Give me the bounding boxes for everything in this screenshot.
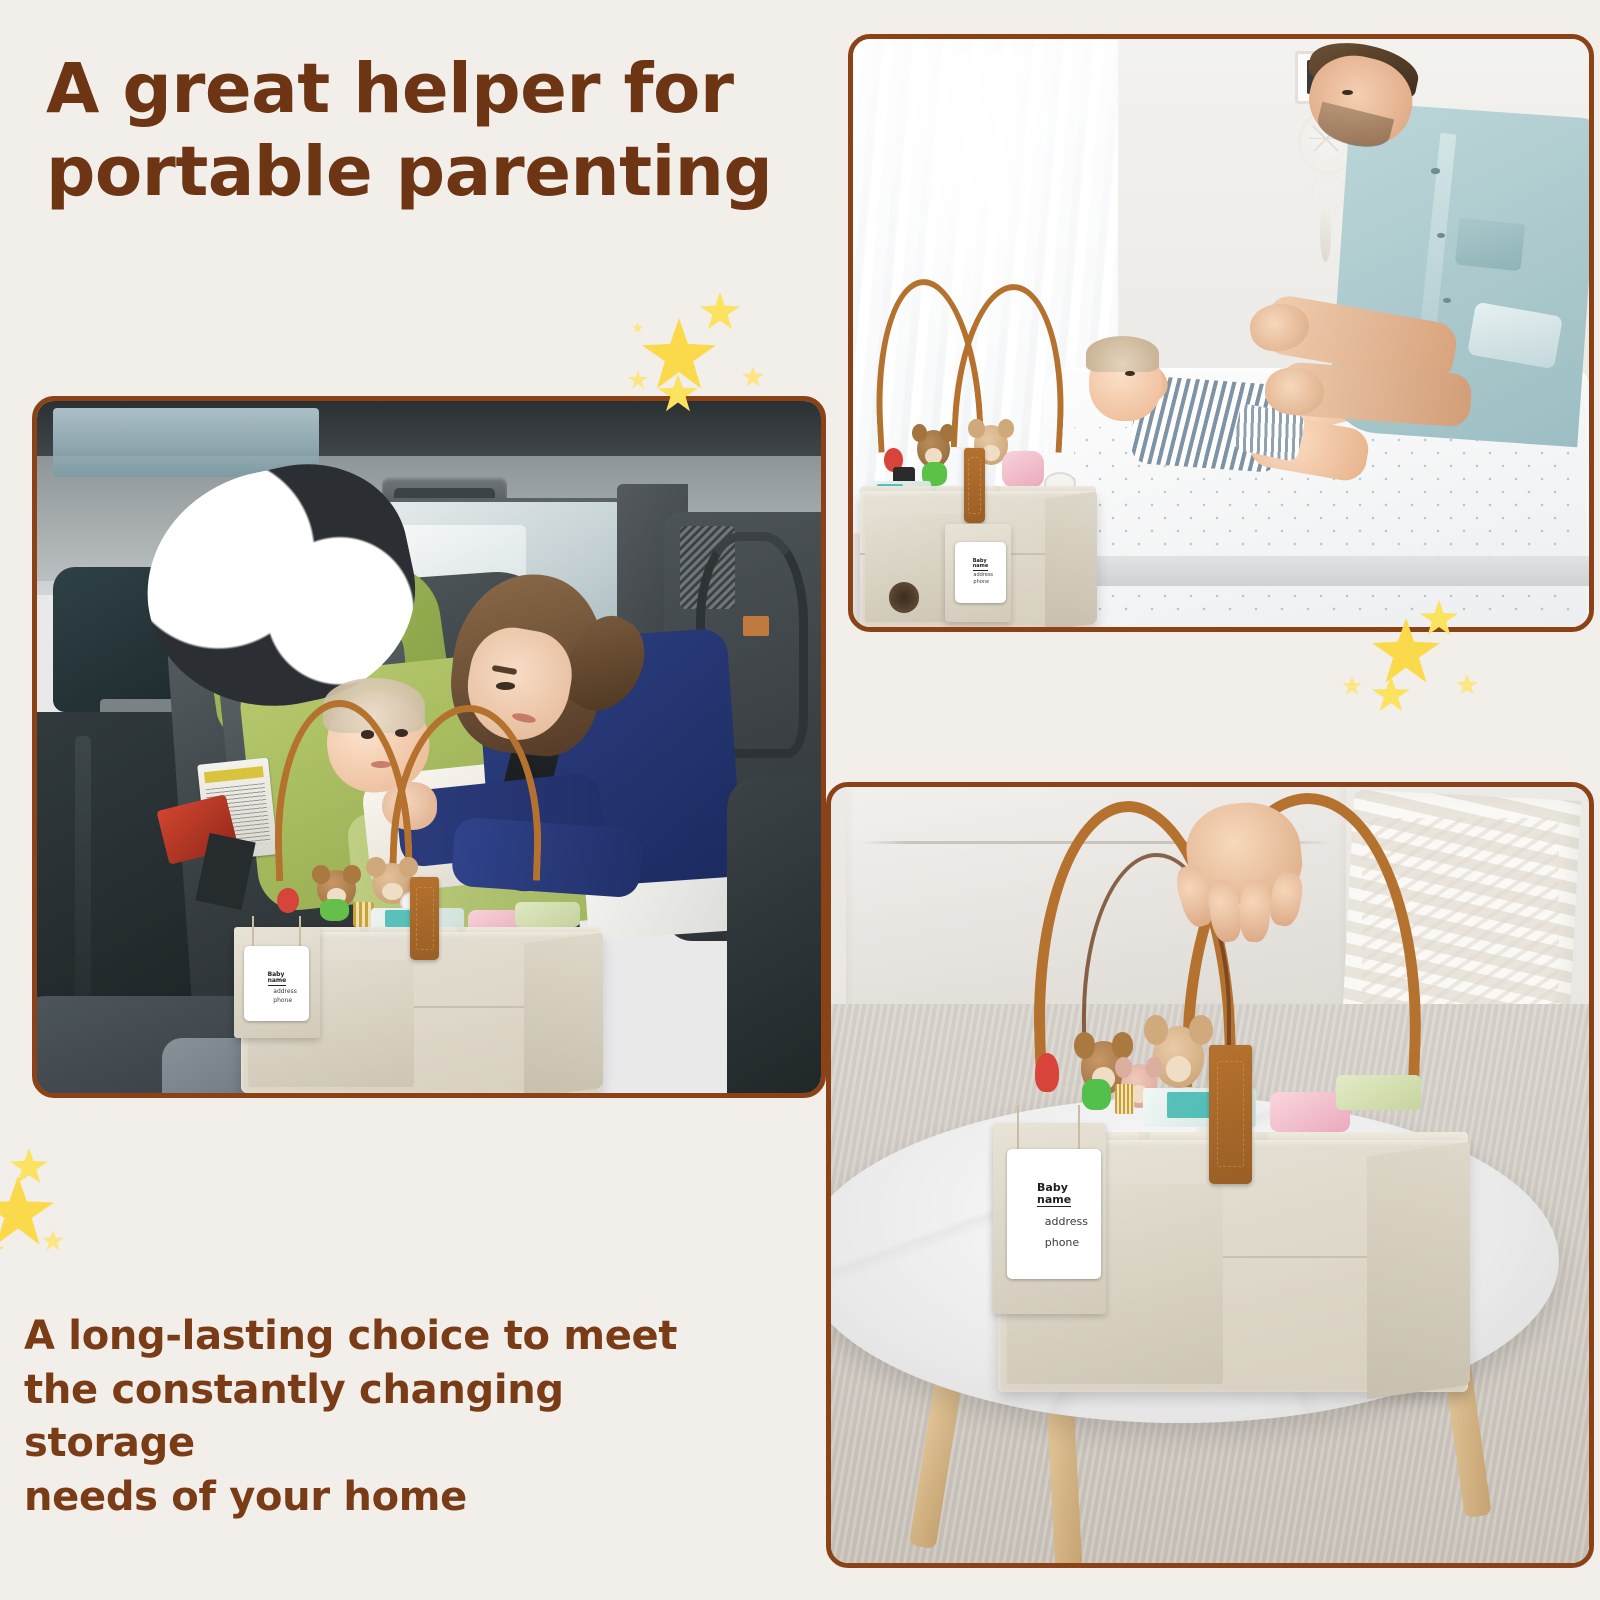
star-cluster-bottom-left [0,1148,126,1298]
star-cluster-mid-right [1316,600,1496,720]
folded-green-cloth [515,902,580,927]
caddy-side-panel [1367,1142,1470,1400]
star-icon [42,1230,64,1251]
name-card-address: address [1045,1216,1064,1228]
subcopy-line-3: needs of your home [24,1471,724,1525]
page-title: A great helper for portable parenting [46,48,786,214]
living-room-scene: Baby name address phone [831,787,1589,1563]
diaper-caddy-product: Baby name address phone [998,958,1468,1393]
shirt-button-1 [1431,168,1439,173]
folded-pink-cloth [1002,451,1044,489]
name-card-address: address [273,989,280,996]
star-cluster-top-center [624,282,774,412]
star-icon [1372,676,1410,712]
dreamcatcher-ring-small [1311,174,1346,211]
headline-line-1: A great helper for [46,48,786,131]
name-card-phone: phone [273,998,280,1005]
name-card-phone: phone [973,580,987,586]
headline-line-2: portable parenting [46,131,786,214]
star-icon [0,1176,54,1246]
name-card-title: Baby name [973,559,989,571]
name-card-phone: phone [1045,1237,1064,1249]
caddy-leather-tag [964,448,985,523]
star-icon [1372,618,1440,684]
flap-stitch-left [1017,1105,1019,1148]
baby-name-card: Baby name address phone [1007,1149,1101,1279]
photo-car-interior: Baby name address phone [32,396,826,1098]
star-icon [1342,676,1362,695]
folded-green-cloth [1336,1075,1421,1110]
toy-red-pompom [1035,1053,1058,1092]
toy-red-pompom [277,888,299,913]
nursery-baby-eye [1125,371,1135,376]
caddy-grommet-hole [889,582,920,613]
star-icon [10,1148,48,1184]
star-icon [628,370,648,389]
toy-green-block [320,899,349,921]
poster-canvas: A great helper for portable parenting A … [0,0,1600,1600]
name-card-title: Baby name [268,972,287,986]
toy-green-block [1082,1079,1110,1109]
toy-striped-bottle [1115,1084,1134,1114]
caddy-side-panel [1045,492,1097,627]
car-scene: Baby name address phone [37,401,821,1093]
seatbelt-tab [743,616,770,637]
star-icon [1456,674,1478,695]
name-card-title: Baby name [1037,1182,1071,1207]
father-shirt-pocket [1454,218,1525,272]
nursery-baby-hair [1086,336,1160,372]
photo-product-on-table: Baby name address phone [826,782,1594,1568]
subcopy-line-1: A long-lasting choice to meet [24,1310,724,1364]
star-icon [700,292,740,330]
caddy-side-panel [524,932,603,1093]
subcopy-text: A long-lasting choice to meet the consta… [24,1310,724,1524]
star-icon [742,366,764,387]
caddy-leather-tag [410,877,439,960]
flap-stitch-right [1078,1105,1080,1148]
baby-name-card: Baby name address phone [244,946,309,1021]
name-card-address: address [973,573,987,579]
changing-table-edge [1044,556,1589,585]
car-right-door [727,775,821,1093]
mother-eye [496,682,515,690]
star-icon [1420,600,1458,636]
star-icon [632,322,643,333]
caddy-leather-tag [1209,1045,1251,1184]
subcopy-line-2: the constantly changing storage [24,1364,724,1471]
baby-name-card: Baby name address phone [955,542,1007,603]
diaper-caddy-car: Baby name address phone [241,816,602,1093]
diaper-caddy-nursery: Baby name address phone [860,392,1096,627]
photo-nursery-changing: Baby name address phone [848,34,1594,632]
nursery-scene: Baby name address phone [853,39,1589,627]
